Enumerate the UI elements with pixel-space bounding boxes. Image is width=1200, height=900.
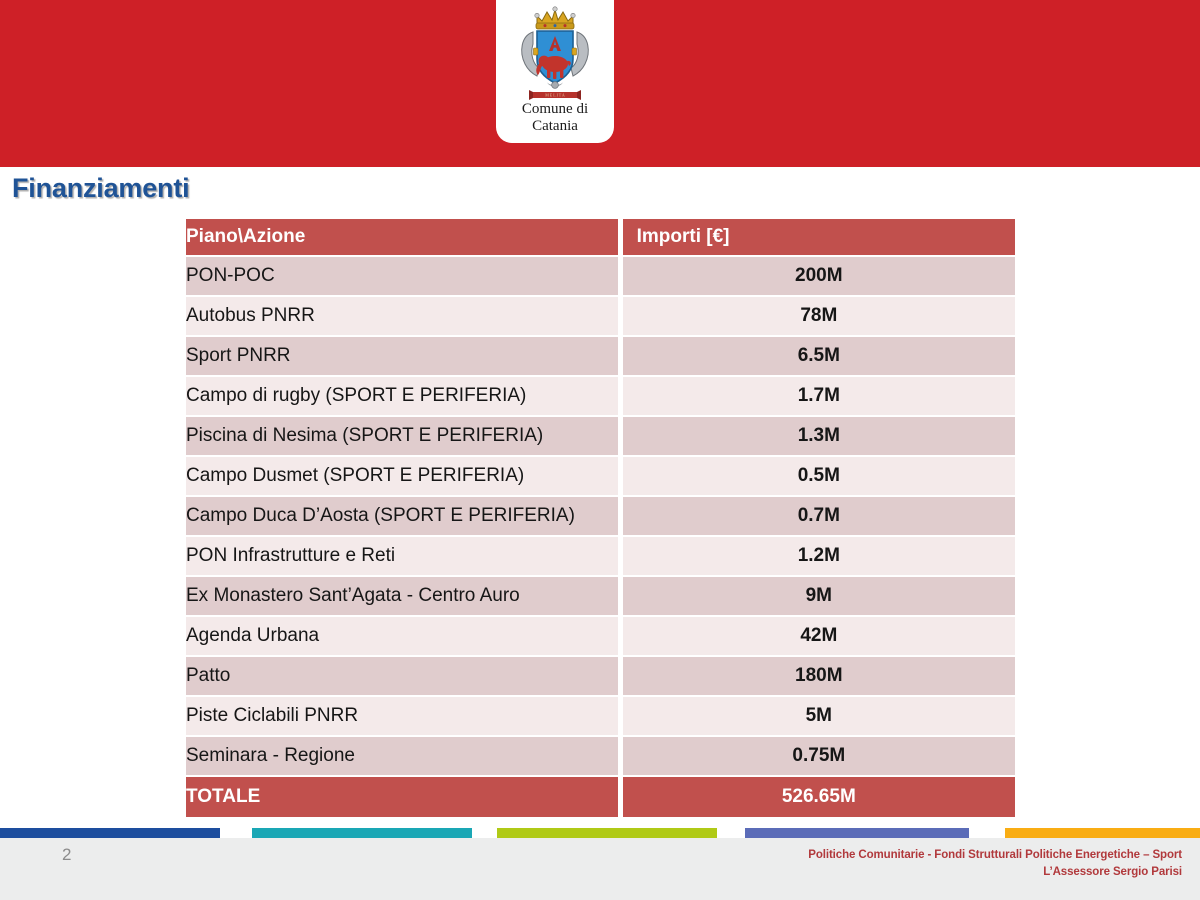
cell-amount: 1.2M — [623, 537, 1015, 577]
table-row: Campo Dusmet (SPORT E PERIFERIA) 0.5M — [186, 457, 1015, 497]
table-row: Campo Duca D’Aosta (SPORT E PERIFERIA) 0… — [186, 497, 1015, 537]
cell-plan: Ex Monastero Sant’Agata - Centro Auro — [186, 577, 623, 617]
page-title: Finanziamenti — [12, 173, 189, 204]
svg-text:M E L I T A: M E L I T A — [545, 93, 565, 98]
table-row: Ex Monastero Sant’Agata - Centro Auro 9M — [186, 577, 1015, 617]
cell-amount: 42M — [623, 617, 1015, 657]
bar-periwinkle — [745, 828, 969, 838]
cell-amount: 5M — [623, 697, 1015, 737]
cell-plan: Sport PNRR — [186, 337, 623, 377]
financing-table: Piano\Azione Importi [€] PON-POC 200M Au… — [186, 219, 1015, 817]
cell-plan: Piscina di Nesima (SPORT E PERIFERIA) — [186, 417, 623, 457]
cell-plan: Campo Dusmet (SPORT E PERIFERIA) — [186, 457, 623, 497]
logo-caption-line2: Catania — [522, 118, 588, 135]
cell-plan: Seminara - Regione — [186, 737, 623, 777]
cell-amount: 1.3M — [623, 417, 1015, 457]
bar-blue — [0, 828, 220, 838]
cell-amount: 180M — [623, 657, 1015, 697]
table-row: Piscina di Nesima (SPORT E PERIFERIA) 1.… — [186, 417, 1015, 457]
comune-di-catania-logo: M E L I T A Comune di Catania — [496, 0, 614, 143]
cell-total-label: TOTALE — [186, 777, 623, 817]
cell-amount: 9M — [623, 577, 1015, 617]
table-row: Autobus PNRR 78M — [186, 297, 1015, 337]
table-row: Piste Ciclabili PNRR 5M — [186, 697, 1015, 737]
logo-caption: Comune di Catania — [522, 101, 588, 134]
table-row: PON Infrastrutture e Reti 1.2M — [186, 537, 1015, 577]
cell-amount: 0.75M — [623, 737, 1015, 777]
table-row: PON-POC 200M — [186, 257, 1015, 297]
table-row: Campo di rugby (SPORT E PERIFERIA) 1.7M — [186, 377, 1015, 417]
footer-credit-line2: L’Assessore Sergio Parisi — [542, 864, 1182, 881]
table-head: Piano\Azione Importi [€] — [186, 219, 1015, 257]
page-number: 2 — [62, 845, 71, 865]
cell-plan: Campo di rugby (SPORT E PERIFERIA) — [186, 377, 623, 417]
bar-teal — [252, 828, 472, 838]
table-header-row: Piano\Azione Importi [€] — [186, 219, 1015, 257]
column-header-amount: Importi [€] — [623, 219, 1015, 257]
table-row: Seminara - Regione 0.75M — [186, 737, 1015, 777]
cell-amount: 6.5M — [623, 337, 1015, 377]
column-header-plan: Piano\Azione — [186, 219, 623, 257]
cell-plan: PON-POC — [186, 257, 623, 297]
footer-credit-line1: Politiche Comunitarie - Fondi Struttural… — [542, 847, 1182, 864]
cell-amount: 200M — [623, 257, 1015, 297]
bar-orange — [1005, 828, 1200, 838]
cell-amount: 78M — [623, 297, 1015, 337]
cell-amount: 0.7M — [623, 497, 1015, 537]
table-row: Patto 180M — [186, 657, 1015, 697]
cell-plan: Agenda Urbana — [186, 617, 623, 657]
cell-plan: Patto — [186, 657, 623, 697]
cell-plan: Campo Duca D’Aosta (SPORT E PERIFERIA) — [186, 497, 623, 537]
bar-green — [497, 828, 717, 838]
table-total-row: TOTALE 526.65M — [186, 777, 1015, 817]
footer-color-bars — [0, 828, 1200, 838]
table-row: Sport PNRR 6.5M — [186, 337, 1015, 377]
logo-caption-line1: Comune di — [522, 101, 588, 118]
cell-amount: 1.7M — [623, 377, 1015, 417]
cell-amount: 0.5M — [623, 457, 1015, 497]
footer-credit: Politiche Comunitarie - Fondi Struttural… — [542, 847, 1182, 881]
cell-plan: Autobus PNRR — [186, 297, 623, 337]
table-row: Agenda Urbana 42M — [186, 617, 1015, 657]
cell-plan: Piste Ciclabili PNRR — [186, 697, 623, 737]
cell-total-amount: 526.65M — [623, 777, 1015, 817]
cell-plan: PON Infrastrutture e Reti — [186, 537, 623, 577]
coat-of-arms-icon: M E L I T A — [509, 4, 601, 100]
table-body: PON-POC 200M Autobus PNRR 78M Sport PNRR… — [186, 257, 1015, 817]
